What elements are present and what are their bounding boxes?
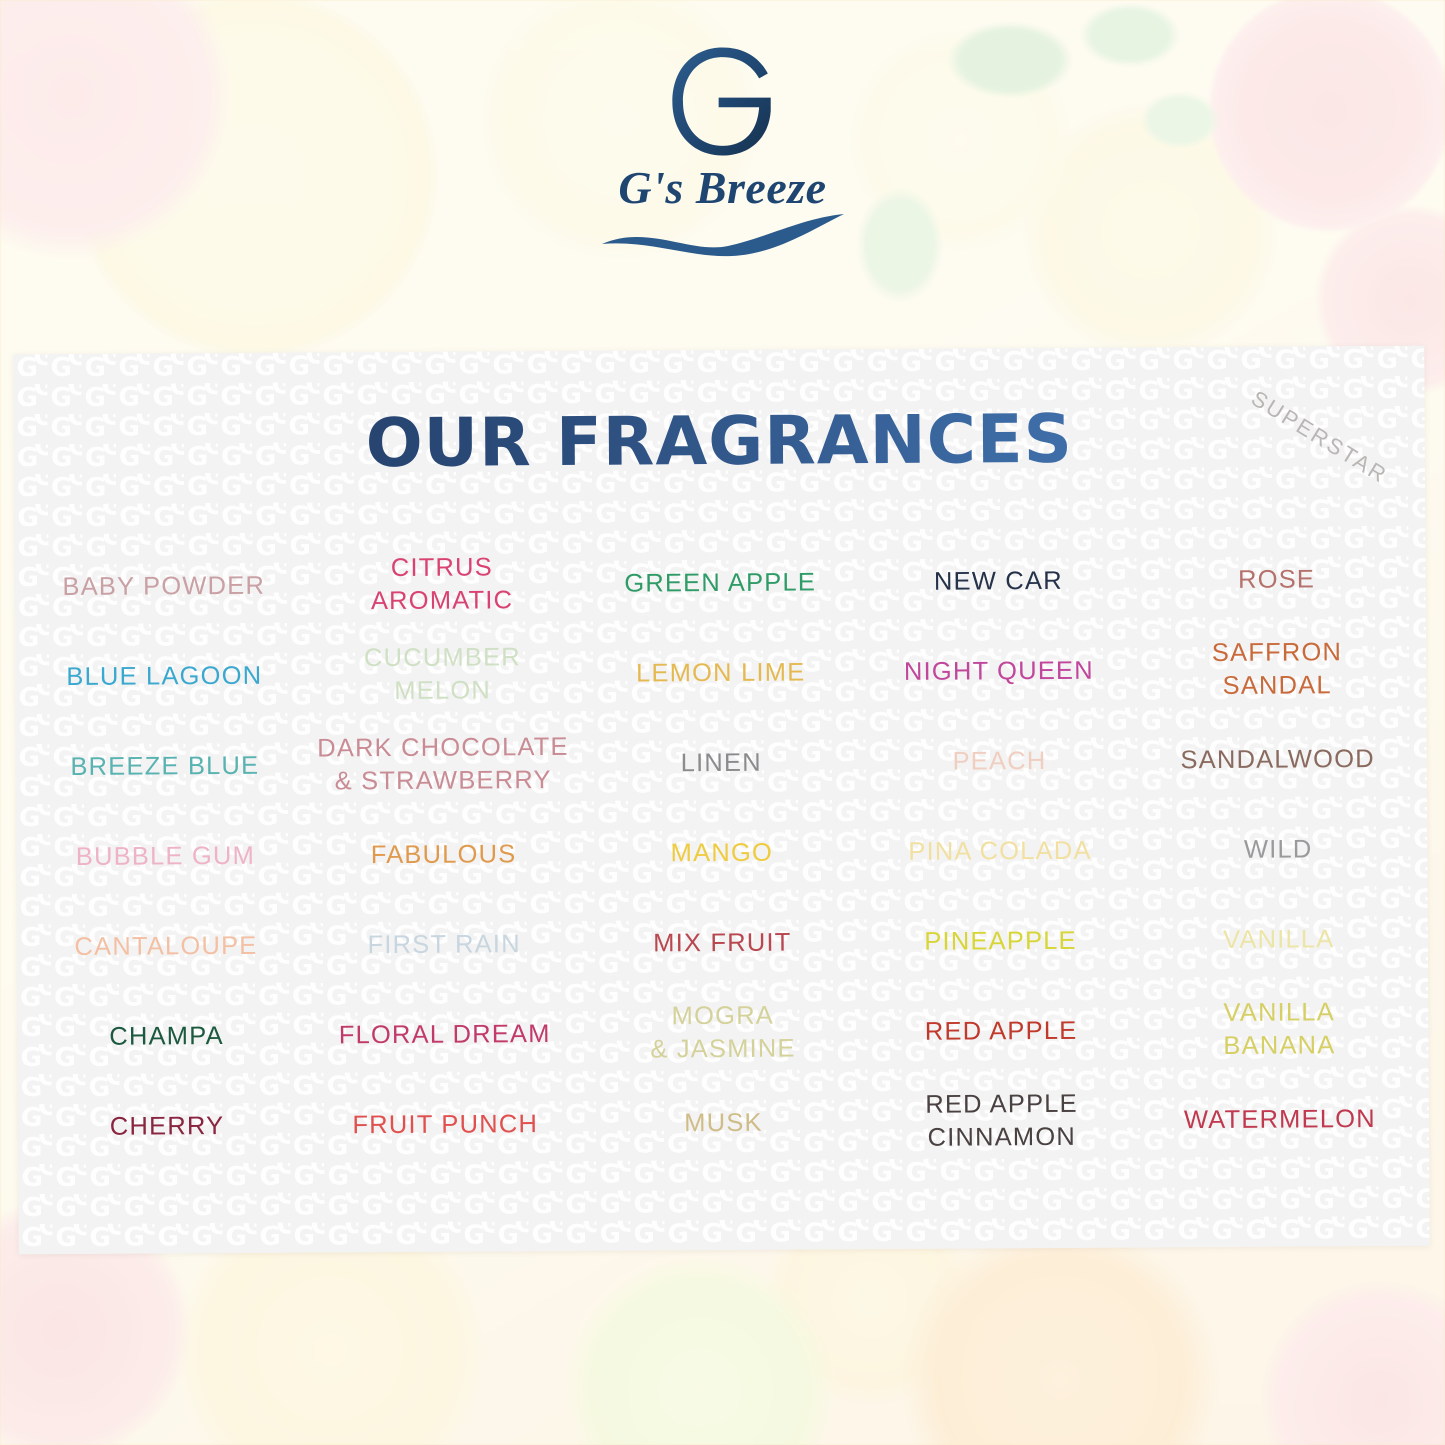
fragrance-card: OUR FRAGRANCES SUPERSTAR BABY POWDERCITR… <box>13 346 1429 1255</box>
fragrance-item: BLUE LAGOON <box>25 631 304 723</box>
fragrance-grid: BABY POWDERCITRUS AROMATICGREEN APPLENEW… <box>24 534 1419 1172</box>
fragrance-item: WATERMELON <box>1140 1074 1419 1166</box>
brand-wordmark: G's Breeze <box>618 161 826 214</box>
fragrance-item: BUBBLE GUM <box>26 811 305 903</box>
fragrance-item: CHAMPA <box>27 991 306 1083</box>
fragrance-item: GREEN APPLE <box>581 537 860 629</box>
fragrance-item: NEW CAR <box>859 535 1138 627</box>
fragrance-item: PEACH <box>860 715 1139 807</box>
fragrance-item: SANDALWOOD <box>1138 714 1417 806</box>
fragrance-item: SAFFRON SANDAL <box>1138 624 1417 716</box>
fragrance-item: PINEAPPLE <box>861 895 1140 987</box>
fragrance-item: CANTALOUPE <box>27 901 306 993</box>
fragrance-item: RED APPLE <box>862 985 1141 1077</box>
fragrance-item: CHERRY <box>28 1081 307 1173</box>
fragrance-item: WILD <box>1139 804 1418 896</box>
fragrance-item: RED APPLE CINNAMON <box>862 1075 1141 1167</box>
fragrance-item: FABULOUS <box>304 809 583 901</box>
fragrance-item: MANGO <box>582 807 861 899</box>
fragrance-item: LEMON LIME <box>581 627 860 719</box>
fragrance-item: LINEN <box>582 717 861 809</box>
fragrance-item: MUSK <box>584 1077 863 1169</box>
fragrance-item: CUCUMBER MELON <box>303 629 582 721</box>
fragrance-item: PINA COLADA <box>861 805 1140 897</box>
fragrance-item: BREEZE BLUE <box>26 721 305 813</box>
fragrance-item: MIX FRUIT <box>583 897 862 989</box>
fragrance-item: NIGHT QUEEN <box>860 625 1139 717</box>
brand-logo: G's Breeze <box>0 34 1445 258</box>
fragrance-item: BABY POWDER <box>24 541 303 633</box>
fragrance-item: CITRUS AROMATIC <box>303 539 582 631</box>
fragrance-item: FLORAL DREAM <box>305 989 584 1081</box>
fragrance-item: FIRST RAIN <box>305 899 584 991</box>
fragrance-item: DARK CHOCOLATE & STRAWBERRY <box>304 719 583 811</box>
wave-swoosh-icon <box>598 210 848 258</box>
letter-g-monogram-icon <box>655 34 790 169</box>
fragrance-item: ROSE <box>1137 534 1416 626</box>
fragrance-item: VANILLA <box>1139 894 1418 986</box>
page-title: OUR FRAGRANCES <box>14 398 1425 485</box>
fragrance-item: VANILLA BANANA <box>1140 984 1419 1076</box>
fragrance-item: MOGRA & JASMINE <box>584 987 863 1079</box>
fragrance-item: FRUIT PUNCH <box>306 1079 585 1171</box>
